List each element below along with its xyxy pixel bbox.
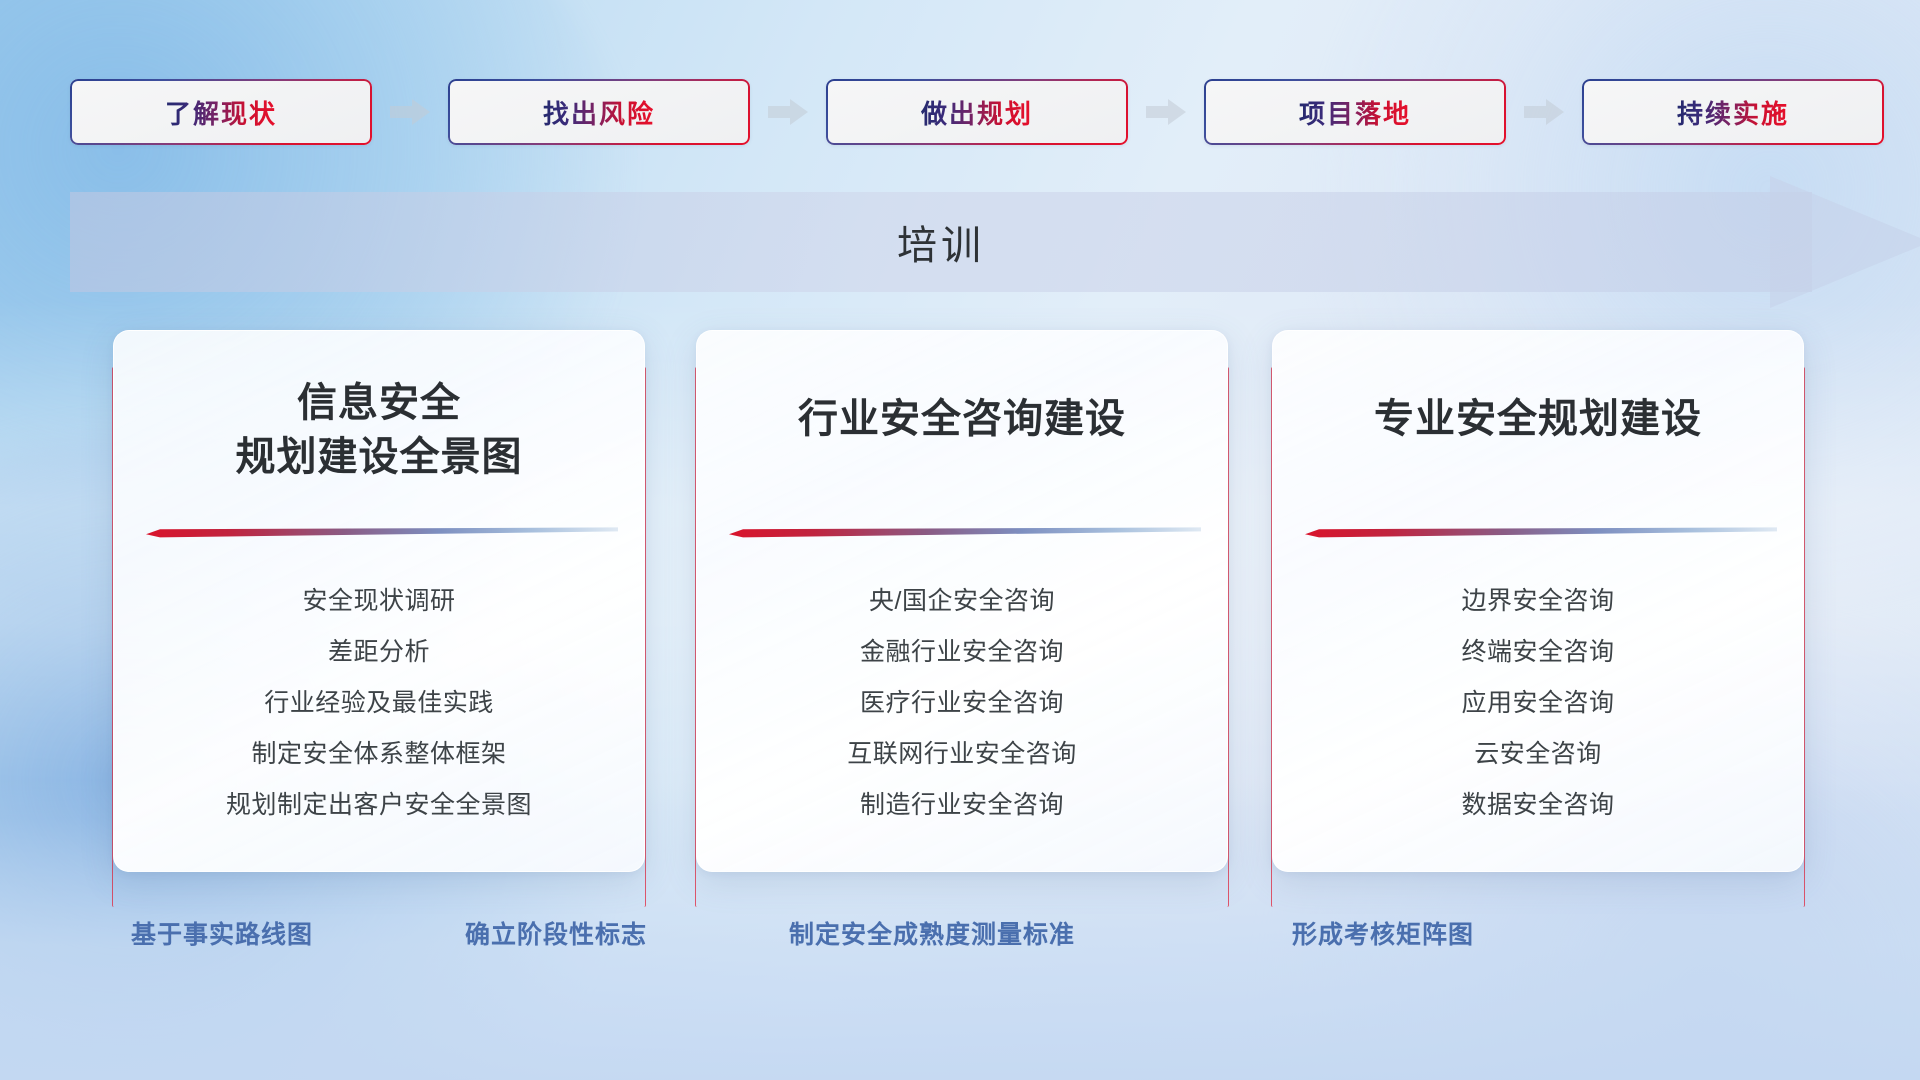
process-step-5-label: 持续实施 bbox=[1677, 94, 1789, 131]
list-item: 规划制定出客户安全全景图 bbox=[114, 780, 644, 831]
slide-stage: 了解现状 找出风险 做出规划 项目落地 持续实施 培训 bbox=[0, 0, 1920, 1080]
card-divider bbox=[1305, 527, 1777, 538]
list-item: 终端安全咨询 bbox=[1273, 627, 1803, 678]
arrow-right-icon bbox=[390, 97, 430, 127]
list-item: 应用安全咨询 bbox=[1273, 678, 1803, 729]
footnote-label-1: 基于事实路线图 bbox=[131, 915, 313, 951]
list-item: 云安全咨询 bbox=[1273, 729, 1803, 780]
footnote-label-2: 确立阶段性标志 bbox=[465, 915, 647, 951]
list-item: 互联网行业安全咨询 bbox=[697, 729, 1227, 780]
card-item-list: 安全现状调研 差距分析 行业经验及最佳实践 制定安全体系整体框架 规划制定出客户… bbox=[114, 576, 644, 831]
list-item: 差距分析 bbox=[114, 627, 644, 678]
card-row: 信息安全 规划建设全景图 bbox=[0, 330, 1920, 870]
card-item-list: 边界安全咨询 终端安全咨询 应用安全咨询 云安全咨询 数据安全咨询 bbox=[1273, 576, 1803, 831]
process-step-2-label: 找出风险 bbox=[543, 94, 655, 131]
process-step-3[interactable]: 做出规划 bbox=[826, 79, 1128, 145]
process-step-4[interactable]: 项目落地 bbox=[1204, 79, 1506, 145]
card-industry-security-consulting[interactable]: 行业安全咨询建设 bbox=[696, 330, 1228, 872]
footnote-row: 基于事实路线图 确立阶段性标志 制定安全成熟度测量标准 形成考核矩阵图 bbox=[0, 915, 1920, 965]
card-divider bbox=[729, 527, 1201, 538]
process-step-1-label: 了解现状 bbox=[165, 94, 277, 131]
footnote-label-3: 制定安全成熟度测量标准 bbox=[789, 915, 1075, 951]
card-title: 专业安全规划建设 bbox=[1273, 393, 1803, 447]
process-step-3-label: 做出规划 bbox=[921, 94, 1033, 131]
arrow-right-icon bbox=[1146, 97, 1186, 127]
list-item: 央/国企安全咨询 bbox=[697, 576, 1227, 627]
card-title: 信息安全 规划建设全景图 bbox=[114, 377, 644, 484]
card-professional-security-planning[interactable]: 专业安全规划建设 bbox=[1272, 330, 1804, 872]
process-step-2[interactable]: 找出风险 bbox=[448, 79, 750, 145]
list-item: 医疗行业安全咨询 bbox=[697, 678, 1227, 729]
list-item: 安全现状调研 bbox=[114, 576, 644, 627]
card-information-security-blueprint[interactable]: 信息安全 规划建设全景图 bbox=[113, 330, 645, 872]
process-step-5[interactable]: 持续实施 bbox=[1582, 79, 1884, 145]
training-banner: 培训 bbox=[70, 192, 1860, 292]
card-title: 行业安全咨询建设 bbox=[697, 393, 1227, 447]
process-step-4-label: 项目落地 bbox=[1299, 94, 1411, 131]
card-divider bbox=[146, 527, 618, 538]
list-item: 制造行业安全咨询 bbox=[697, 780, 1227, 831]
list-item: 制定安全体系整体框架 bbox=[114, 729, 644, 780]
card-item-list: 央/国企安全咨询 金融行业安全咨询 医疗行业安全咨询 互联网行业安全咨询 制造行… bbox=[697, 576, 1227, 831]
process-step-1[interactable]: 了解现状 bbox=[70, 79, 372, 145]
list-item: 数据安全咨询 bbox=[1273, 780, 1803, 831]
arrow-right-icon bbox=[1524, 97, 1564, 127]
list-item: 金融行业安全咨询 bbox=[697, 627, 1227, 678]
arrow-right-icon bbox=[768, 97, 808, 127]
footnote-label-4: 形成考核矩阵图 bbox=[1292, 915, 1474, 951]
list-item: 边界安全咨询 bbox=[1273, 576, 1803, 627]
training-banner-label: 培训 bbox=[70, 192, 1812, 292]
list-item: 行业经验及最佳实践 bbox=[114, 678, 644, 729]
process-step-row: 了解现状 找出风险 做出规划 项目落地 持续实施 bbox=[70, 78, 1860, 146]
